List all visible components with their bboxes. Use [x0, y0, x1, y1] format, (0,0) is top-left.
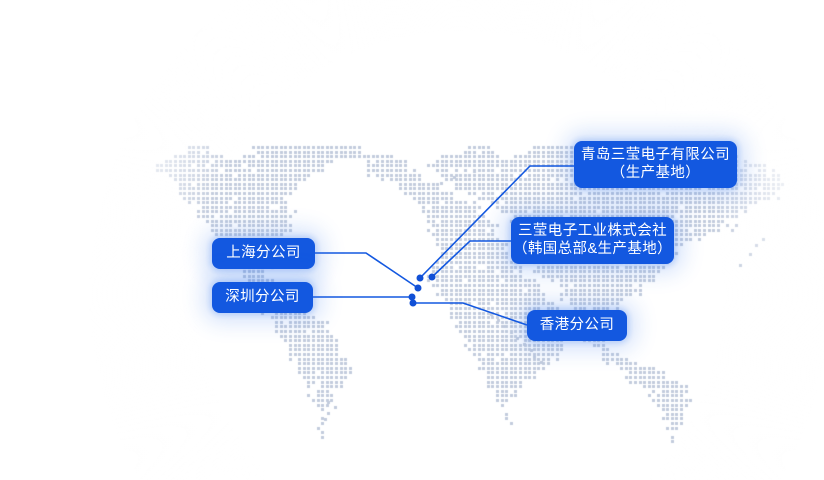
connector-shanghai: [315, 253, 418, 288]
label-hongkong-branch[interactable]: 香港分公司: [527, 310, 627, 341]
connector-lines: [0, 0, 824, 480]
connector-korea: [432, 241, 511, 277]
label-korea-hq[interactable]: 三莹电子工业株式会社 （韩国总部&生产基地）: [511, 217, 674, 264]
label-korea-line1: 三莹电子工业株式会社: [518, 223, 667, 241]
hongkong-marker[interactable]: [410, 300, 417, 307]
label-shanghai-line1: 上海分公司: [226, 245, 301, 263]
label-shenzhen-branch[interactable]: 深圳分公司: [212, 282, 313, 313]
world-map-infographic: 青岛三莹电子有限公司 （生产基地） 三莹电子工业株式会社 （韩国总部&生产基地）…: [0, 0, 824, 480]
label-qingdao-line1: 青岛三莹电子有限公司: [581, 147, 730, 165]
label-shanghai-branch[interactable]: 上海分公司: [212, 238, 315, 269]
shanghai-marker[interactable]: [415, 285, 422, 292]
label-qingdao-line2: （生产基地）: [611, 165, 700, 183]
connector-hongkong: [413, 303, 527, 325]
label-qingdao[interactable]: 青岛三莹电子有限公司 （生产基地）: [574, 141, 737, 188]
label-shenzhen-line1: 深圳分公司: [225, 289, 300, 307]
qingdao-marker[interactable]: [417, 275, 424, 282]
label-hongkong-line1: 香港分公司: [540, 317, 615, 335]
korea-marker[interactable]: [429, 274, 436, 281]
label-korea-line2: （韩国总部&生产基地）: [513, 241, 672, 259]
